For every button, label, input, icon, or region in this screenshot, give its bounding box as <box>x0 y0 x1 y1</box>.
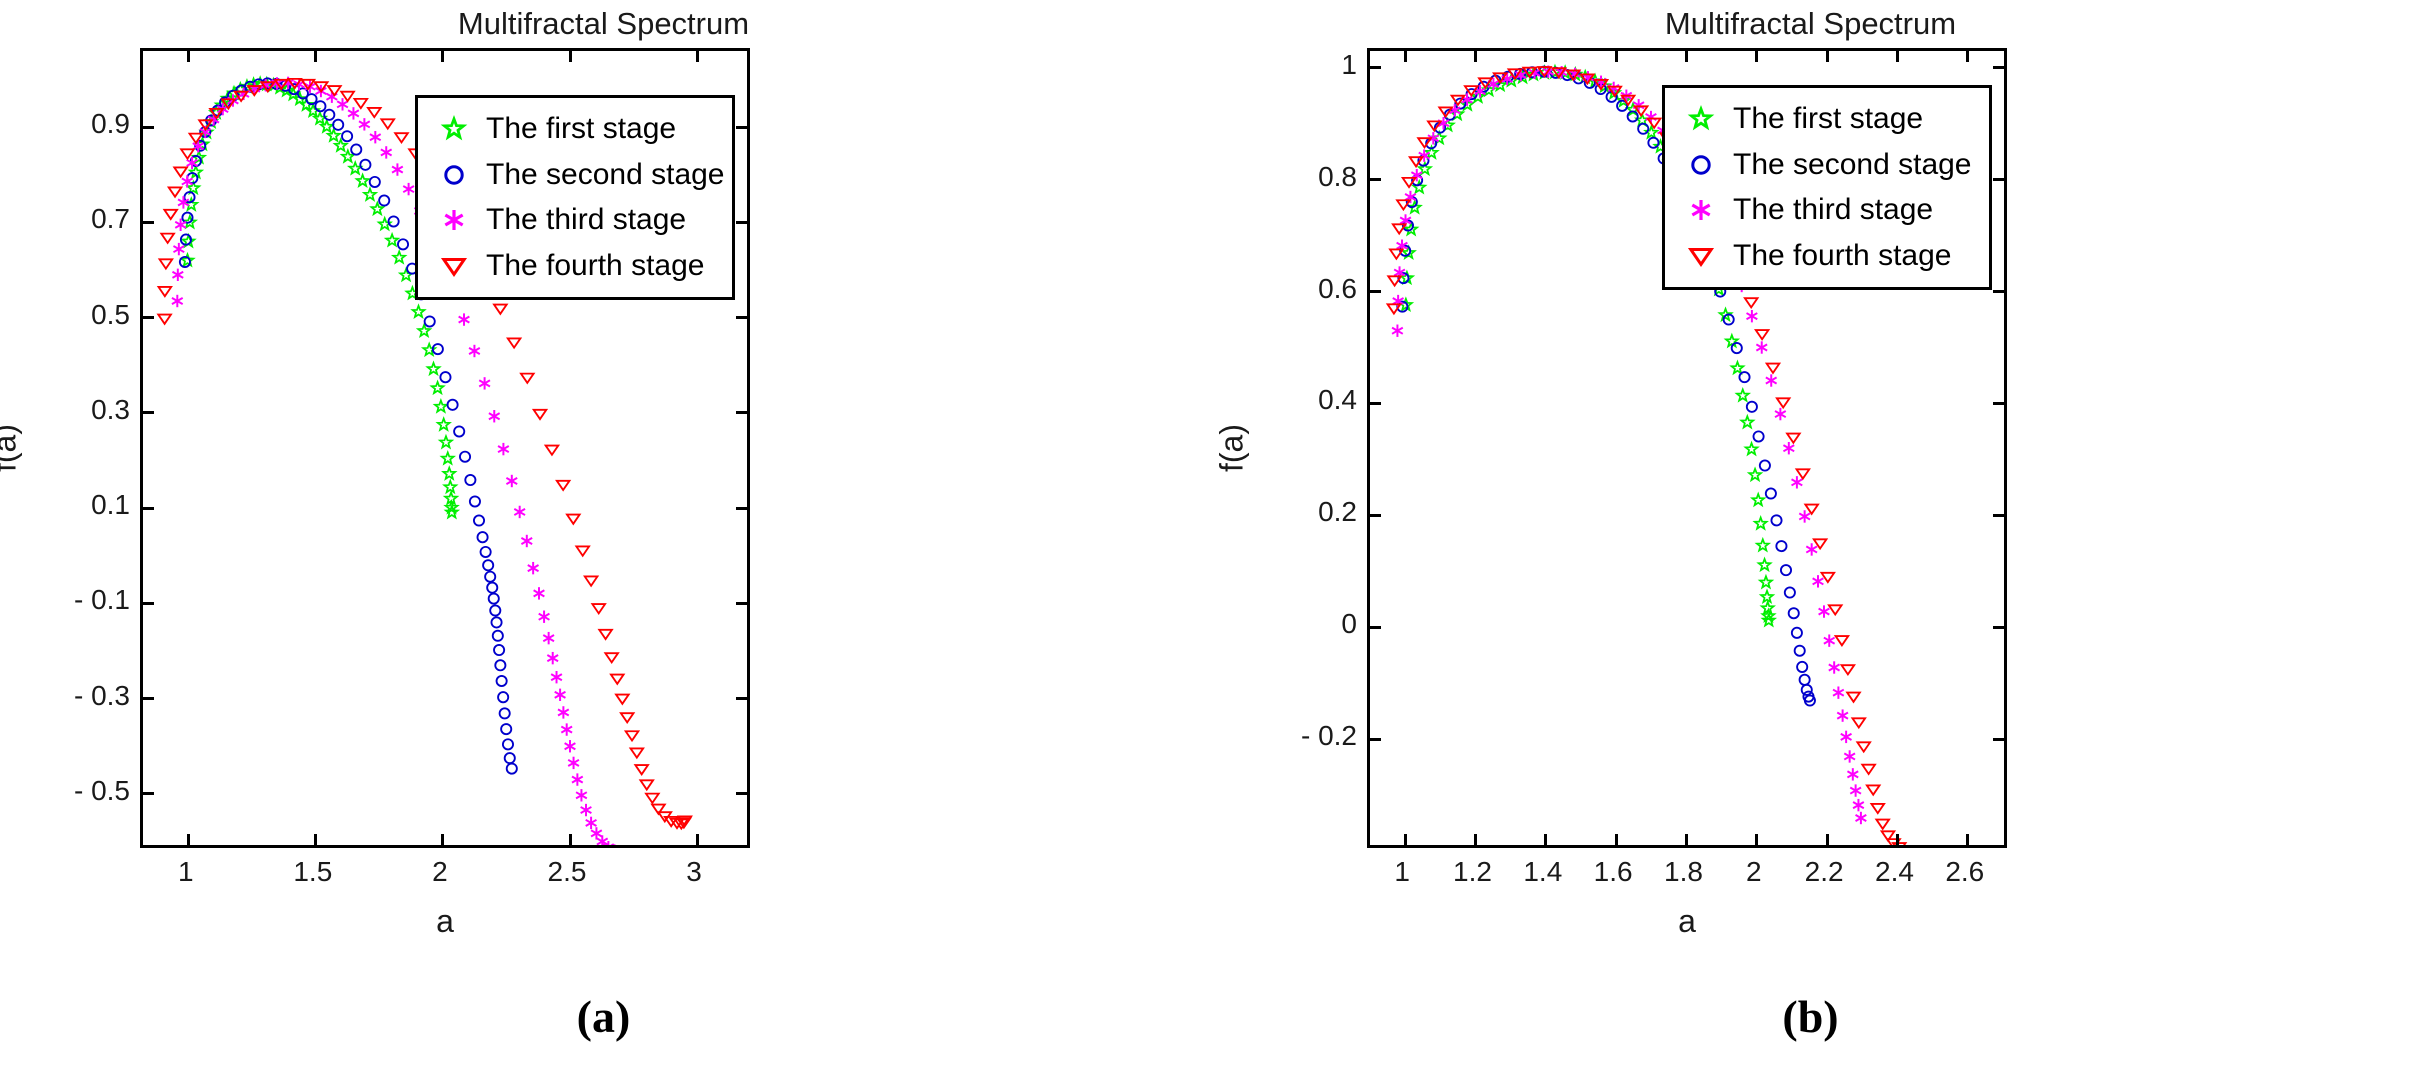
legend-item-3: The third stage <box>428 198 716 242</box>
legend-item-1: The first stage <box>1675 97 1973 141</box>
x-tickmark <box>1826 834 1829 845</box>
legend-item-2: The second stage <box>428 153 716 197</box>
x-axis-label-a: a <box>140 903 750 940</box>
y-tickmark <box>736 221 747 224</box>
legend-label: The second stage <box>1727 148 1972 182</box>
y-tickmark <box>1993 290 2004 293</box>
y-tickmark <box>1370 738 1381 741</box>
x-tickmark <box>1544 834 1547 845</box>
y-tickmark <box>143 792 154 795</box>
y-tickmark <box>1993 514 2004 517</box>
x-tickmark <box>1404 834 1407 845</box>
x-tickmark <box>1685 51 1688 62</box>
asterisk-marker-icon <box>1675 193 1727 227</box>
x-tick-label: 2.6 <box>1945 856 1984 888</box>
y-tickmark <box>143 221 154 224</box>
y-tickmark <box>1993 626 2004 629</box>
x-tickmark <box>569 834 572 845</box>
y-tickmark <box>143 602 154 605</box>
y-tickmark <box>736 316 747 319</box>
x-tickmark <box>314 834 317 845</box>
legend-label: The second stage <box>480 158 725 192</box>
subfigure-label-b: (b) <box>1207 990 2414 1043</box>
x-tickmark <box>1544 51 1547 62</box>
x-axis-label-b: a <box>1367 903 2007 940</box>
y-tickmark <box>736 602 747 605</box>
legend-item-2: The second stage <box>1675 143 1973 187</box>
y-tick-label: - 0.2 <box>1301 720 1357 752</box>
x-tick-label: 1.5 <box>293 856 332 888</box>
legend-label: The first stage <box>480 112 676 146</box>
y-tick-label: - 0.3 <box>74 680 130 712</box>
x-tickmark <box>187 834 190 845</box>
y-tickmark <box>1993 66 2004 69</box>
x-tickmark <box>1474 51 1477 62</box>
y-tickmark <box>143 697 154 700</box>
y-tickmark <box>1370 402 1381 405</box>
y-tick-label: 0 <box>1341 608 1357 640</box>
x-tickmark <box>441 834 444 845</box>
y-tickmark <box>1370 626 1381 629</box>
legend-item-4: The fourth stage <box>1675 234 1973 278</box>
legend-item-4: The fourth stage <box>428 244 716 288</box>
y-tick-label: 0.9 <box>91 108 130 140</box>
legend-label: The fourth stage <box>1727 239 1951 273</box>
asterisk-marker-icon <box>428 203 480 237</box>
triangle-down-marker-icon <box>428 249 480 283</box>
x-tickmark <box>187 51 190 62</box>
star-marker-icon <box>428 112 480 146</box>
y-tick-label: 0.7 <box>91 203 130 235</box>
y-tickmark <box>1370 178 1381 181</box>
y-tickmark <box>1993 738 2004 741</box>
chart-title-b: Multifractal Spectrum <box>1207 6 2414 42</box>
x-tickmark <box>1826 51 1829 62</box>
legend-item-3: The third stage <box>1675 188 1973 232</box>
x-tickmark <box>1615 834 1618 845</box>
x-tickmark <box>1755 834 1758 845</box>
y-tickmark <box>143 411 154 414</box>
x-tick-label: 1.2 <box>1453 856 1492 888</box>
y-axis-label-b: f(a) <box>1214 424 1251 472</box>
x-tickmark <box>1966 834 1969 845</box>
circle-marker-icon <box>1675 148 1727 182</box>
y-tick-label: 0.1 <box>91 489 130 521</box>
x-tick-label: 1 <box>178 856 194 888</box>
x-tickmark <box>314 51 317 62</box>
y-tickmark <box>1370 290 1381 293</box>
y-tick-label: 0.2 <box>1318 496 1357 528</box>
x-tick-label: 3 <box>686 856 702 888</box>
y-tick-label: - 0.1 <box>74 584 130 616</box>
y-tickmark <box>1993 402 2004 405</box>
legend-label: The fourth stage <box>480 249 704 283</box>
y-axis-label-a: f(a) <box>0 424 24 472</box>
x-tick-label: 2.5 <box>548 856 587 888</box>
y-tickmark <box>143 507 154 510</box>
y-tickmark <box>736 792 747 795</box>
y-tickmark <box>736 411 747 414</box>
x-tickmark <box>696 51 699 62</box>
triangle-down-marker-icon <box>1675 239 1727 273</box>
y-tick-label: 0.8 <box>1318 161 1357 193</box>
x-tickmark <box>1755 51 1758 62</box>
panel-a: Multifractal Spectrum f(a) a The first s… <box>0 0 1207 1073</box>
y-tickmark <box>143 316 154 319</box>
panel-b: Multifractal Spectrum f(a) a The first s… <box>1207 0 2414 1073</box>
x-tick-label: 2 <box>1746 856 1762 888</box>
y-tick-label: 0.3 <box>91 394 130 426</box>
x-tickmark <box>1404 51 1407 62</box>
x-tick-label: 1.6 <box>1594 856 1633 888</box>
x-tickmark <box>1685 834 1688 845</box>
legend-label: The first stage <box>1727 102 1923 136</box>
x-tick-label: 2 <box>432 856 448 888</box>
y-tickmark <box>143 126 154 129</box>
x-tick-label: 2.2 <box>1805 856 1844 888</box>
x-tick-label: 2.4 <box>1875 856 1914 888</box>
x-tickmark <box>696 834 699 845</box>
x-tick-label: 1.4 <box>1523 856 1562 888</box>
y-tickmark <box>1370 66 1381 69</box>
y-tickmark <box>736 507 747 510</box>
x-tickmark <box>1615 51 1618 62</box>
x-tickmark <box>1966 51 1969 62</box>
legend-b: The first stageThe second stageThe third… <box>1662 85 1992 290</box>
y-tickmark <box>736 126 747 129</box>
y-tickmark <box>736 697 747 700</box>
figure-container: Multifractal Spectrum f(a) a The first s… <box>0 0 2415 1073</box>
chart-title-a: Multifractal Spectrum <box>0 6 1207 42</box>
circle-marker-icon <box>428 158 480 192</box>
y-tick-label: 0.6 <box>1318 273 1357 305</box>
y-tickmark <box>1370 514 1381 517</box>
x-tickmark <box>569 51 572 62</box>
y-tick-label: 0.5 <box>91 299 130 331</box>
x-tickmark <box>441 51 444 62</box>
x-tickmark <box>1896 51 1899 62</box>
legend-item-1: The first stage <box>428 107 716 151</box>
x-tickmark <box>1474 834 1477 845</box>
subfigure-label-a: (a) <box>0 990 1207 1043</box>
x-tick-label: 1 <box>1394 856 1410 888</box>
y-tick-label: 1 <box>1341 49 1357 81</box>
y-tick-label: - 0.5 <box>74 775 130 807</box>
y-tick-label: 0.4 <box>1318 384 1357 416</box>
legend-a: The first stageThe second stageThe third… <box>415 95 735 300</box>
star-marker-icon <box>1675 102 1727 136</box>
legend-label: The third stage <box>1727 193 1933 227</box>
x-tick-label: 1.8 <box>1664 856 1703 888</box>
legend-label: The third stage <box>480 203 686 237</box>
x-tickmark <box>1896 834 1899 845</box>
y-tickmark <box>1993 178 2004 181</box>
